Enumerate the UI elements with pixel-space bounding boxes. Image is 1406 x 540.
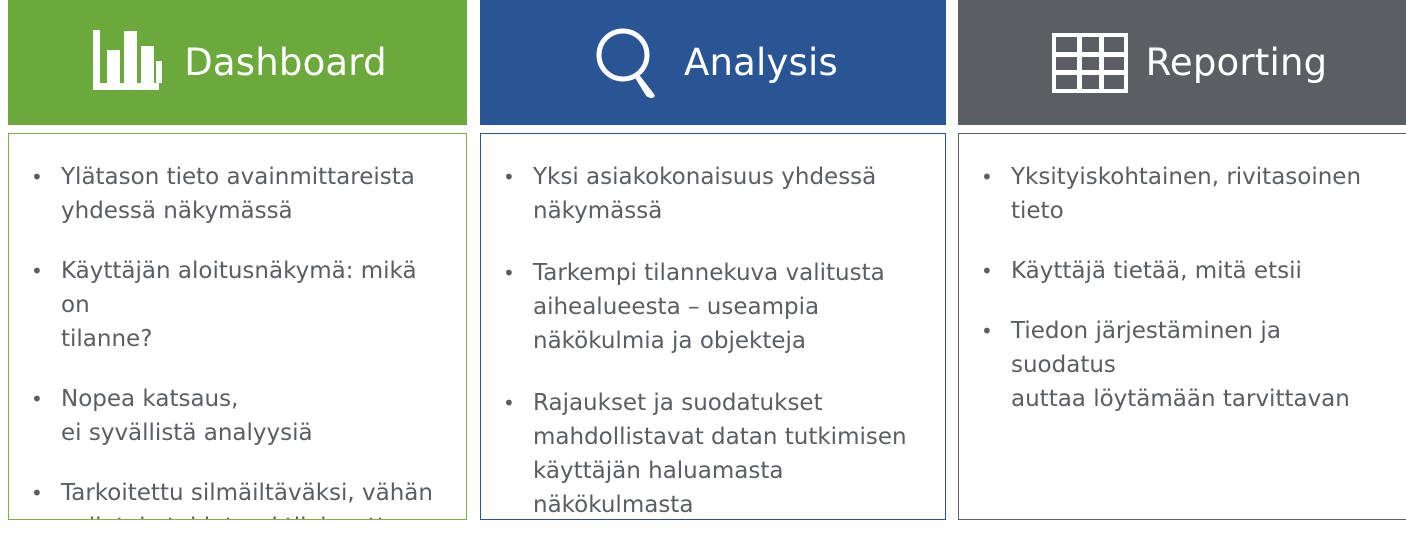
bullet-text: Käyttäjän aloitusnäkymä: mikä on tilanne…: [61, 254, 444, 356]
bullet-marker: •: [973, 160, 1011, 194]
bullet-marker: •: [23, 160, 61, 194]
card-analysis: Analysis • Yksi asiakokonaisuus yhdessä …: [480, 0, 946, 540]
magnifying-glass-icon: [588, 26, 668, 100]
card-body-reporting: • Yksityiskohtainen, rivitasoinen tieto …: [958, 133, 1406, 520]
card-body-analysis: • Yksi asiakokonaisuus yhdessä näkymässä…: [480, 133, 946, 520]
bullet-list-analysis: • Yksi asiakokonaisuus yhdessä näkymässä…: [495, 160, 923, 520]
list-item: • Käyttäjä tietää, mitä etsii: [973, 254, 1388, 288]
list-item: • Tiedon järjestäminen ja suodatus autta…: [973, 314, 1388, 416]
list-item: • Käyttäjän aloitusnäkymä: mikä on tilan…: [23, 254, 444, 356]
three-card-comparison-board: Dashboard • Ylätason tieto avainmittarei…: [0, 0, 1406, 540]
card-header-analysis[interactable]: Analysis: [480, 0, 946, 125]
bar-chart-icon: [88, 26, 168, 100]
card-reporting: Reporting • Yksityiskohtainen, rivitasoi…: [958, 0, 1406, 540]
bullet-text: Ylätason tieto avainmittareista yhdessä …: [61, 160, 444, 228]
bullet-marker: •: [973, 314, 1011, 348]
list-item: • Ylätason tieto avainmittareista yhdess…: [23, 160, 444, 228]
bullet-marker: •: [495, 256, 533, 290]
card-dashboard: Dashboard • Ylätason tieto avainmittarei…: [0, 0, 467, 540]
bullet-marker: •: [23, 254, 61, 288]
bullet-text: Yksi asiakokonaisuus yhdessä näkymässä: [533, 160, 923, 228]
card-header-dashboard[interactable]: Dashboard: [8, 0, 467, 125]
bullet-marker: •: [23, 382, 61, 416]
bullet-text: Yksityiskohtainen, rivitasoinen tieto: [1011, 160, 1388, 228]
list-item: • Tarkoitettu silmäiltäväksi, vähän vali…: [23, 476, 444, 520]
card-title-dashboard: Dashboard: [184, 41, 387, 84]
card-body-dashboard: • Ylätason tieto avainmittareista yhdess…: [8, 133, 467, 520]
card-header-reporting[interactable]: Reporting: [958, 0, 1406, 125]
list-item: • Rajaukset ja suodatukset mahdollistava…: [495, 386, 923, 520]
list-item: • Yksi asiakokonaisuus yhdessä näkymässä: [495, 160, 923, 228]
bullet-text: Käyttäjä tietää, mitä etsii: [1011, 254, 1388, 288]
card-title-reporting: Reporting: [1146, 41, 1328, 84]
table-grid-icon: [1050, 26, 1130, 100]
list-item: • Tarkempi tilannekuva valitusta aihealu…: [495, 256, 923, 358]
bullet-marker: •: [973, 254, 1011, 288]
bullet-marker: •: [23, 476, 61, 510]
bullet-text: Tarkoitettu silmäiltäväksi, vähän valint…: [61, 476, 444, 520]
bullet-marker: •: [495, 160, 533, 194]
bullet-text: Tiedon järjestäminen ja suodatus auttaa …: [1011, 314, 1388, 416]
list-item: • Nopea katsaus, ei syvällistä analyysiä: [23, 382, 444, 450]
list-item: • Yksityiskohtainen, rivitasoinen tieto: [973, 160, 1388, 228]
card-title-analysis: Analysis: [684, 41, 838, 84]
bullet-list-reporting: • Yksityiskohtainen, rivitasoinen tieto …: [973, 160, 1388, 416]
bullet-text: Rajaukset ja suodatukset mahdollistavat …: [533, 386, 923, 520]
bullet-text: Tarkempi tilannekuva valitusta aihealuee…: [533, 256, 923, 358]
bullet-list-dashboard: • Ylätason tieto avainmittareista yhdess…: [23, 160, 444, 520]
bullet-text: Nopea katsaus, ei syvällistä analyysiä: [61, 382, 444, 450]
bullet-marker: •: [495, 386, 533, 420]
